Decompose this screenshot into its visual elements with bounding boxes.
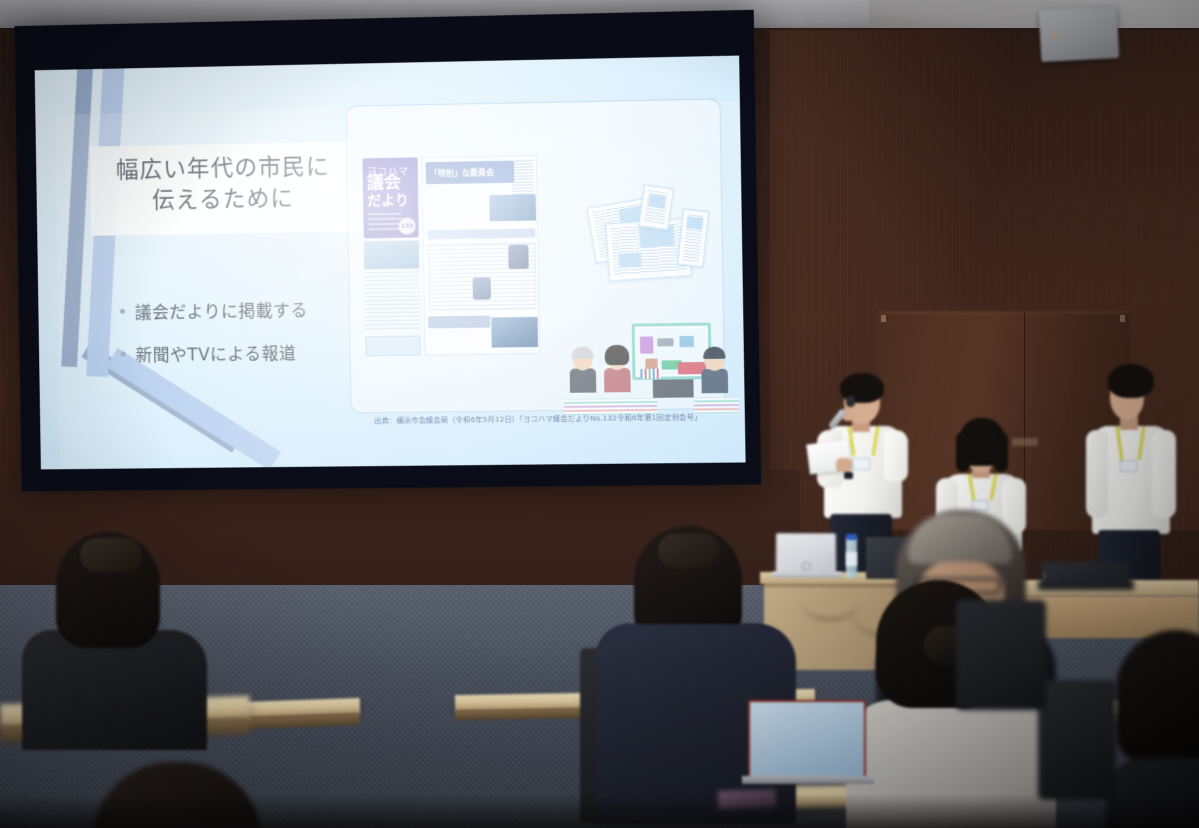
slide-title-line-2: 伝えるために [91,182,357,217]
audience-laptop-right[interactable] [1038,562,1134,598]
studio-display-stand [653,379,694,398]
slide-title: 幅広い年代の市民に 伝えるために [90,152,356,218]
newsletter-portrait-1 [508,245,529,269]
presenter-arm-left [1086,430,1108,518]
presenter-hand-paper [836,458,852,472]
audience-laptop-base [742,776,874,784]
newsletter-section-band [428,229,536,240]
studio-tile [657,338,673,346]
water-bottle-cap [846,534,857,540]
anchor-body [604,368,631,392]
anchor-hair [703,347,726,359]
microphone-head-icon [846,396,855,407]
projection-screen: 幅広い年代の市民に 伝えるために 議会だよりに掲載する 新聞やTVによる報道 ヨ… [14,10,761,492]
newsletter-footer-box [365,336,420,357]
slide-bullet-list: 議会だよりに掲載する 新聞やTVによる報道 [133,295,377,384]
presenter-hair [1108,364,1154,398]
presenter-arm-right [1152,430,1176,518]
newsletter-cover-text-lines [368,213,401,234]
studio-chart-bars [640,369,660,379]
newsletter-photo [364,240,419,269]
studio-tile [640,336,653,353]
audience-far-right-head [1116,630,1199,762]
studio-display-screen [632,323,712,380]
newsletter-title-line-2: だより [367,194,409,209]
slide-title-line-1: 幅広い年代の市民に [90,152,356,187]
projection-screen-surface: 幅広い年代の市民に 伝えるために 議会だよりに掲載する 新聞やTVによる報道 ヨ… [35,56,746,470]
studio-desk-right [694,397,739,414]
newspaper-photo-box [686,216,703,230]
presentation-room-scene: 幅広い年代の市民に 伝えるために 議会だよりに掲載する 新聞やTVによる報道 ヨ… [0,0,1199,828]
presenter-hair-side [994,432,1008,472]
audience-left-jacket [22,630,207,750]
anchor-hair [571,346,593,358]
newspaper-photo-box [648,194,666,208]
newsletter-issue-badge: 132 [398,217,415,234]
newsletter-cover: ヨコハマ 議会 だより 132 [363,157,419,238]
newsletter-subheadline [428,316,490,329]
anchor-body [570,368,597,392]
ceiling-speaker [1039,6,1120,62]
newsletter-headline: 「特別」な委員会 [426,161,515,185]
audience-laptop-right-screen [1042,562,1130,582]
slide-bullet-item: 議会だよりに掲載する [133,295,376,323]
presenter-name-badge [1120,460,1137,472]
chair-right [1038,680,1116,800]
newsletter-text-block [364,271,420,332]
bullet-dot-icon [121,351,126,356]
presenter-arm-right [884,430,908,482]
chair-center-right [956,600,1046,710]
studio-display-content [637,328,707,375]
presenter-name-badge [852,458,870,470]
newsletter-inside-page: 「特別」な委員会 [422,155,541,355]
newspaper-photo-box [619,252,642,268]
door-hinge-right-icon [1120,315,1125,322]
slide-bullet-item: 新聞やTVによる報道 [133,338,376,366]
newspaper-sheet [638,184,674,230]
slide-bullet-text: 議会だよりに掲載する [135,296,308,323]
bullet-dot-icon [120,309,125,314]
newsletter-inside-photo-2 [491,317,538,348]
presenter-wristwatch [844,472,853,479]
presenter-hair-side [956,432,970,472]
anchor-hair [605,345,630,365]
speaker-led-icon [1052,33,1057,38]
slide-bullet-text: 新聞やTVによる報道 [135,339,296,366]
audience-left [22,512,222,742]
anchor-body [701,369,728,394]
studio-tile [679,336,693,347]
foreground-shadow [0,794,1199,828]
audience-laptop-screen [748,700,866,778]
newsletter-inside-photo-1 [489,194,536,221]
audience-laptop-center[interactable] [748,700,868,792]
door-hinge-left-icon [881,315,886,322]
water-bottle-label [846,552,857,566]
audience-center-hair-highlight [658,534,720,568]
newsletter-title-line-1: 議会 [367,175,401,193]
presenter-third [1084,360,1184,590]
newspaper-sheet [677,209,709,268]
tv-news-studio-illustration [563,320,739,423]
newsletter-portrait-2 [473,277,491,299]
stacked-newspapers-illustration [590,185,715,296]
audience-left-hair-highlight [80,538,142,572]
